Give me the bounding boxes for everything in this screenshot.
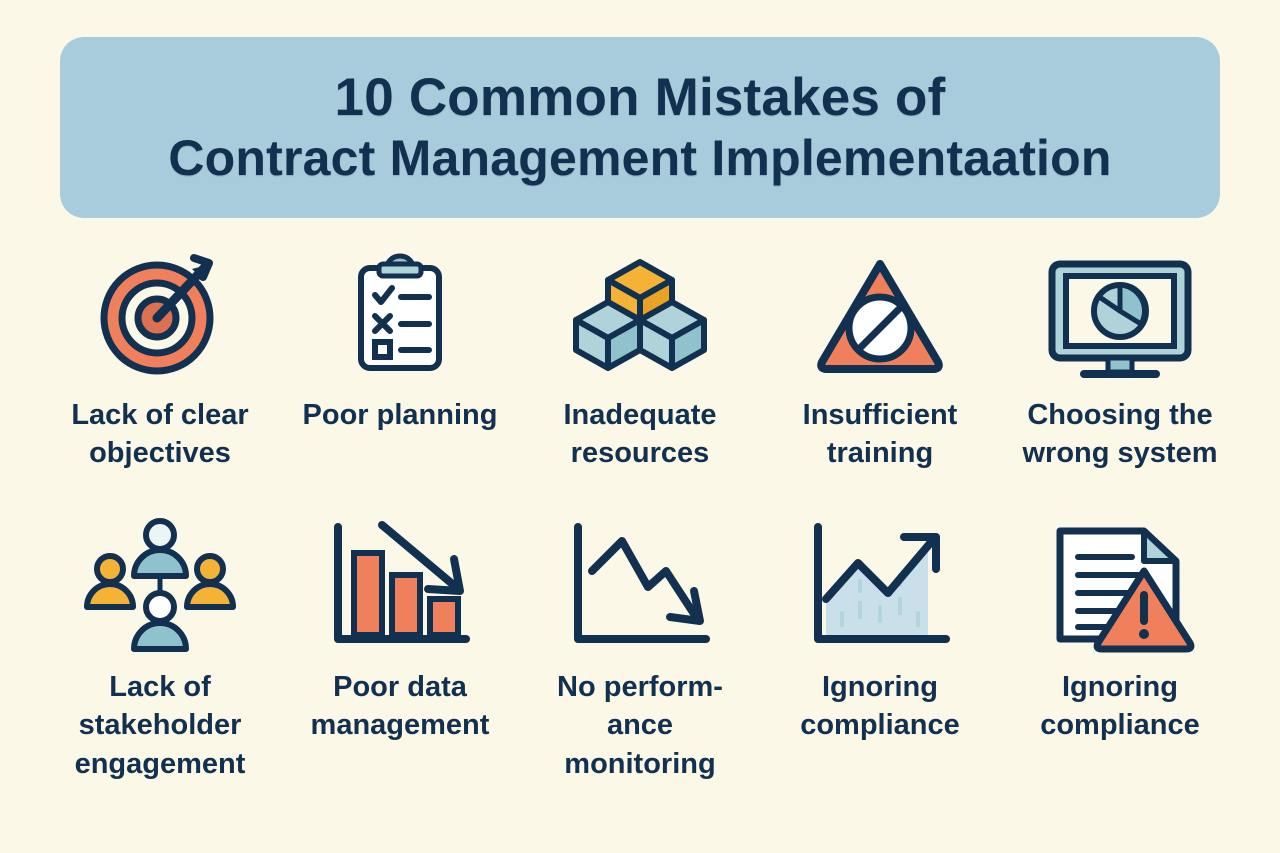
mistake-item-inadequate-resources: Inadequate resources <box>520 240 760 512</box>
page-title-line-2: Contract Management Implementaation <box>168 132 1111 185</box>
item-label: Ignoring compliance <box>778 668 983 745</box>
icon-container <box>80 512 240 662</box>
item-label: Insufficient training <box>778 396 983 473</box>
target-dart-icon <box>95 250 225 380</box>
mistake-item-lack-of-clear-objectives: Lack of clear objectives <box>40 240 280 512</box>
mistake-item-choosing-the-wrong-system: Choosing the wrong system <box>1000 240 1240 512</box>
item-label: Lack of clear objectives <box>58 396 263 473</box>
icon-container <box>320 512 480 662</box>
icon-container <box>800 512 960 662</box>
icon-container <box>335 240 465 390</box>
item-label: Ignoring compliance <box>1018 668 1223 745</box>
mistake-item-insufficient-training: Insufficient training <box>760 240 1000 512</box>
page-title-line-1: 10 Common Mistakes of <box>335 70 946 126</box>
item-label: No perform-ance monitoring <box>538 668 743 783</box>
stacked-cubes-icon <box>570 250 710 380</box>
clipboard-checklist-icon <box>335 250 465 380</box>
mistake-item-poor-planning: Poor planning <box>280 240 520 512</box>
item-label: Inadequate resources <box>538 396 743 473</box>
stakeholder-network-icon <box>80 517 240 657</box>
icon-container <box>1040 512 1200 662</box>
icon-container <box>95 240 225 390</box>
document-warning-icon <box>1040 517 1200 657</box>
declining-line-chart-icon <box>560 517 720 657</box>
declining-bar-chart-icon <box>320 517 480 657</box>
mistake-item-ignoring-compliance-document: Ignoring compliance <box>1000 512 1240 812</box>
mistake-item-no-performance-monitoring: No perform-ance monitoring <box>520 512 760 812</box>
item-label: Poor planning <box>303 396 498 434</box>
header-banner: 10 Common Mistakes of Contract Managemen… <box>60 37 1220 218</box>
mistake-item-ignoring-compliance-chart: Ignoring compliance <box>760 512 1000 812</box>
icon-container <box>810 240 950 390</box>
icon-container <box>560 512 720 662</box>
item-label: Choosing the wrong system <box>1018 396 1223 473</box>
mistakes-grid: Lack of clear objectives Poor planning <box>40 240 1240 812</box>
no-entry-triangle-icon <box>810 250 950 380</box>
mistakes-row-2: Lack of stakeholder engagement Poor data… <box>40 512 1240 812</box>
mistake-item-poor-data-management: Poor data management <box>280 512 520 812</box>
mistakes-row-1: Lack of clear objectives Poor planning <box>40 240 1240 512</box>
icon-container <box>1040 240 1200 390</box>
item-label: Lack of stakeholder engagement <box>58 668 263 783</box>
item-label: Poor data management <box>298 668 503 745</box>
monitor-pie-chart-icon <box>1040 250 1200 380</box>
mistake-item-lack-of-stakeholder-engagement: Lack of stakeholder engagement <box>40 512 280 812</box>
rising-area-chart-icon <box>800 517 960 657</box>
icon-container <box>570 240 710 390</box>
